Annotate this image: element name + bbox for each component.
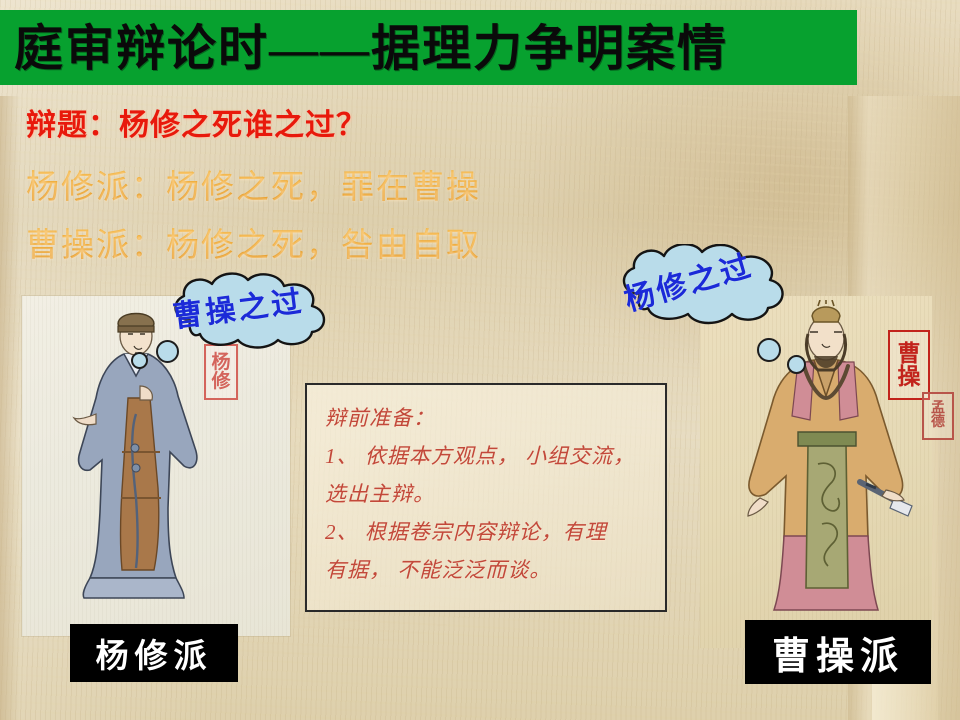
banner-title: 庭审辩论时——据理力争明案情 xyxy=(14,21,844,77)
seal-yangxiu: 杨 修 xyxy=(204,344,238,400)
seal-mengde: 孟 德 xyxy=(922,392,954,440)
thought-trail-dot-large-right xyxy=(757,338,781,362)
seal-mengde-char-1: 孟 xyxy=(931,402,945,416)
seal-caocao: 曹 操 xyxy=(888,330,930,400)
seal-mengde-char-2: 德 xyxy=(931,416,945,430)
prep-line-2a: 2、 根据卷宗内容辩论，有理 xyxy=(325,513,647,551)
title-banner: 庭审辩论时——据理力争明案情 xyxy=(0,10,857,85)
prep-line-title: 辩前准备： xyxy=(325,399,647,437)
prep-line-1b: 选出主辩。 xyxy=(325,475,647,513)
preparation-box: 辩前准备： 1、 依据本方观点， 小组交流， 选出主辩。 2、 根据卷宗内容辩论… xyxy=(305,383,667,612)
paper-left-edge xyxy=(0,96,20,720)
thought-bubble-left: 曹操之过 xyxy=(160,272,340,350)
debate-topic: 辩题：杨修之死谁之过？ xyxy=(26,100,367,144)
stance-caocao: 曹操派：杨修之死，咎由自取 xyxy=(26,218,481,266)
seal-yangxiu-char-2: 修 xyxy=(211,372,230,391)
seal-caocao-char-1: 曹 xyxy=(898,342,921,365)
seal-caocao-char-2: 操 xyxy=(898,365,921,388)
prep-line-2b: 有据， 不能泛泛而谈。 xyxy=(325,551,647,589)
stance-yangxiu: 杨修派：杨修之死，罪在曹操 xyxy=(26,160,481,208)
nameplate-yangxiu-team: 杨修派 xyxy=(70,624,238,682)
thought-bubble-right: 杨修之过 xyxy=(610,244,798,326)
thought-trail-dot-small-left xyxy=(131,352,148,369)
thought-trail-dot-large-left xyxy=(156,340,179,363)
thought-trail-dot-small-right xyxy=(787,355,806,374)
nameplate-caocao-team: 曹操派 xyxy=(745,620,931,684)
slide-canvas: 庭审辩论时——据理力争明案情 辩题：杨修之死谁之过？ 杨修派：杨修之死，罪在曹操… xyxy=(0,0,960,720)
prep-line-1a: 1、 依据本方观点， 小组交流， xyxy=(325,437,647,475)
seal-yangxiu-char-1: 杨 xyxy=(211,353,230,372)
